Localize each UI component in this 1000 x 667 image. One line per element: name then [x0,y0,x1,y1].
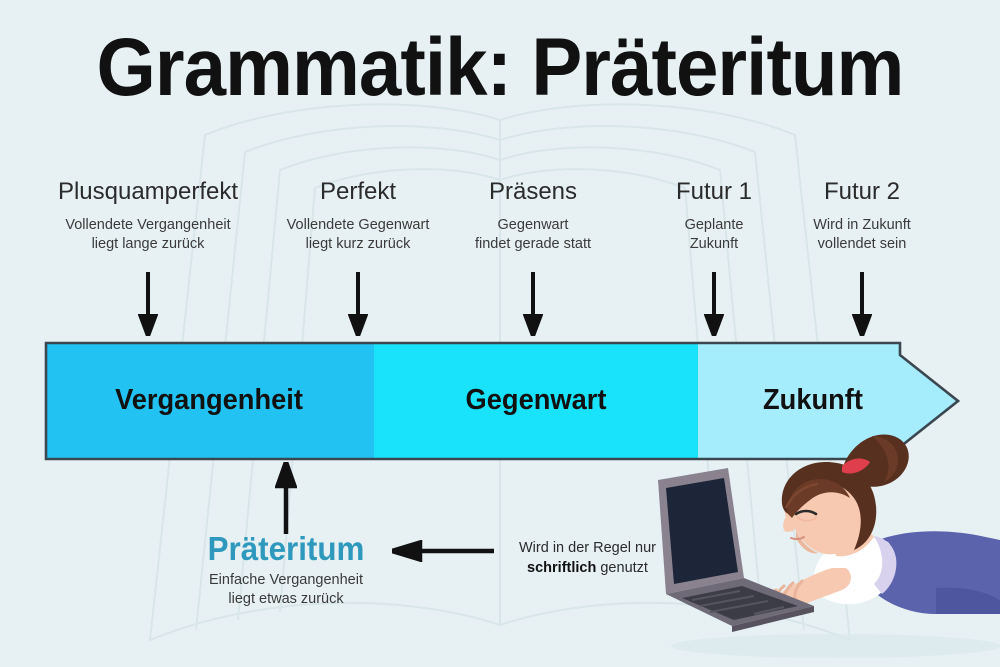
infographic-canvas: Grammatik: Präteritum Plusquamperfekt Vo… [0,0,1000,667]
segment-label-vergangenheit: Vergangenheit [54,385,364,415]
tense-desc-line1: Gegenwart [443,216,623,235]
tense-desc-line2: vollendet sein [782,235,942,254]
tense-name: Perfekt [248,178,468,206]
tense-name: Plusquamperfekt [28,178,268,206]
tense-desc-line2: liegt lange zurück [28,235,268,254]
tense-name: Präsens [443,178,623,206]
down-arrow-icon [138,272,158,336]
tense-column-futur-1: Futur 1 Geplante Zukunft [634,178,794,254]
tense-desc-line2: Zukunft [634,235,794,254]
usage-note-bold: schriftlich [527,560,596,576]
tense-column-praesens: Präsens Gegenwart findet gerade statt [443,178,623,254]
tense-column-futur-2: Futur 2 Wird in Zukunft vollendet sein [782,178,942,254]
praeteritum-title: Präteritum [138,531,434,567]
head [782,434,909,554]
tense-name: Futur 1 [634,178,794,206]
segment-label-zukunft: Zukunft [705,385,921,415]
down-arrow-icon [852,272,872,336]
tense-desc-line1: Vollendete Gegenwart [248,216,468,235]
tense-desc-line1: Geplante [634,216,794,235]
up-arrow-icon [275,462,297,534]
praeteritum-desc-line1: Einfache Vergangenheit [130,571,442,590]
tense-column-perfekt: Perfekt Vollendete Gegenwart liegt kurz … [248,178,468,254]
segment-label-gegenwart: Gegenwart [384,385,689,415]
tense-column-plusquamperfekt: Plusquamperfekt Vollendete Vergangenheit… [28,178,268,254]
down-arrow-icon [704,272,724,336]
praeteritum-desc-line2: liegt etwas zurück [130,590,442,609]
tense-desc-line1: Vollendete Vergangenheit [28,216,268,235]
tense-desc-line2: findet gerade statt [443,235,623,254]
left-arrow-icon [392,540,494,562]
tense-desc-line1: Wird in Zukunft [782,216,942,235]
down-arrow-icon [348,272,368,336]
page-title: Grammatik: Präteritum [35,26,965,110]
tense-name: Futur 2 [782,178,942,206]
woman-typing-illustration [636,418,1000,667]
tense-desc-line2: liegt kurz zurück [248,235,468,254]
down-arrow-icon [523,272,543,336]
